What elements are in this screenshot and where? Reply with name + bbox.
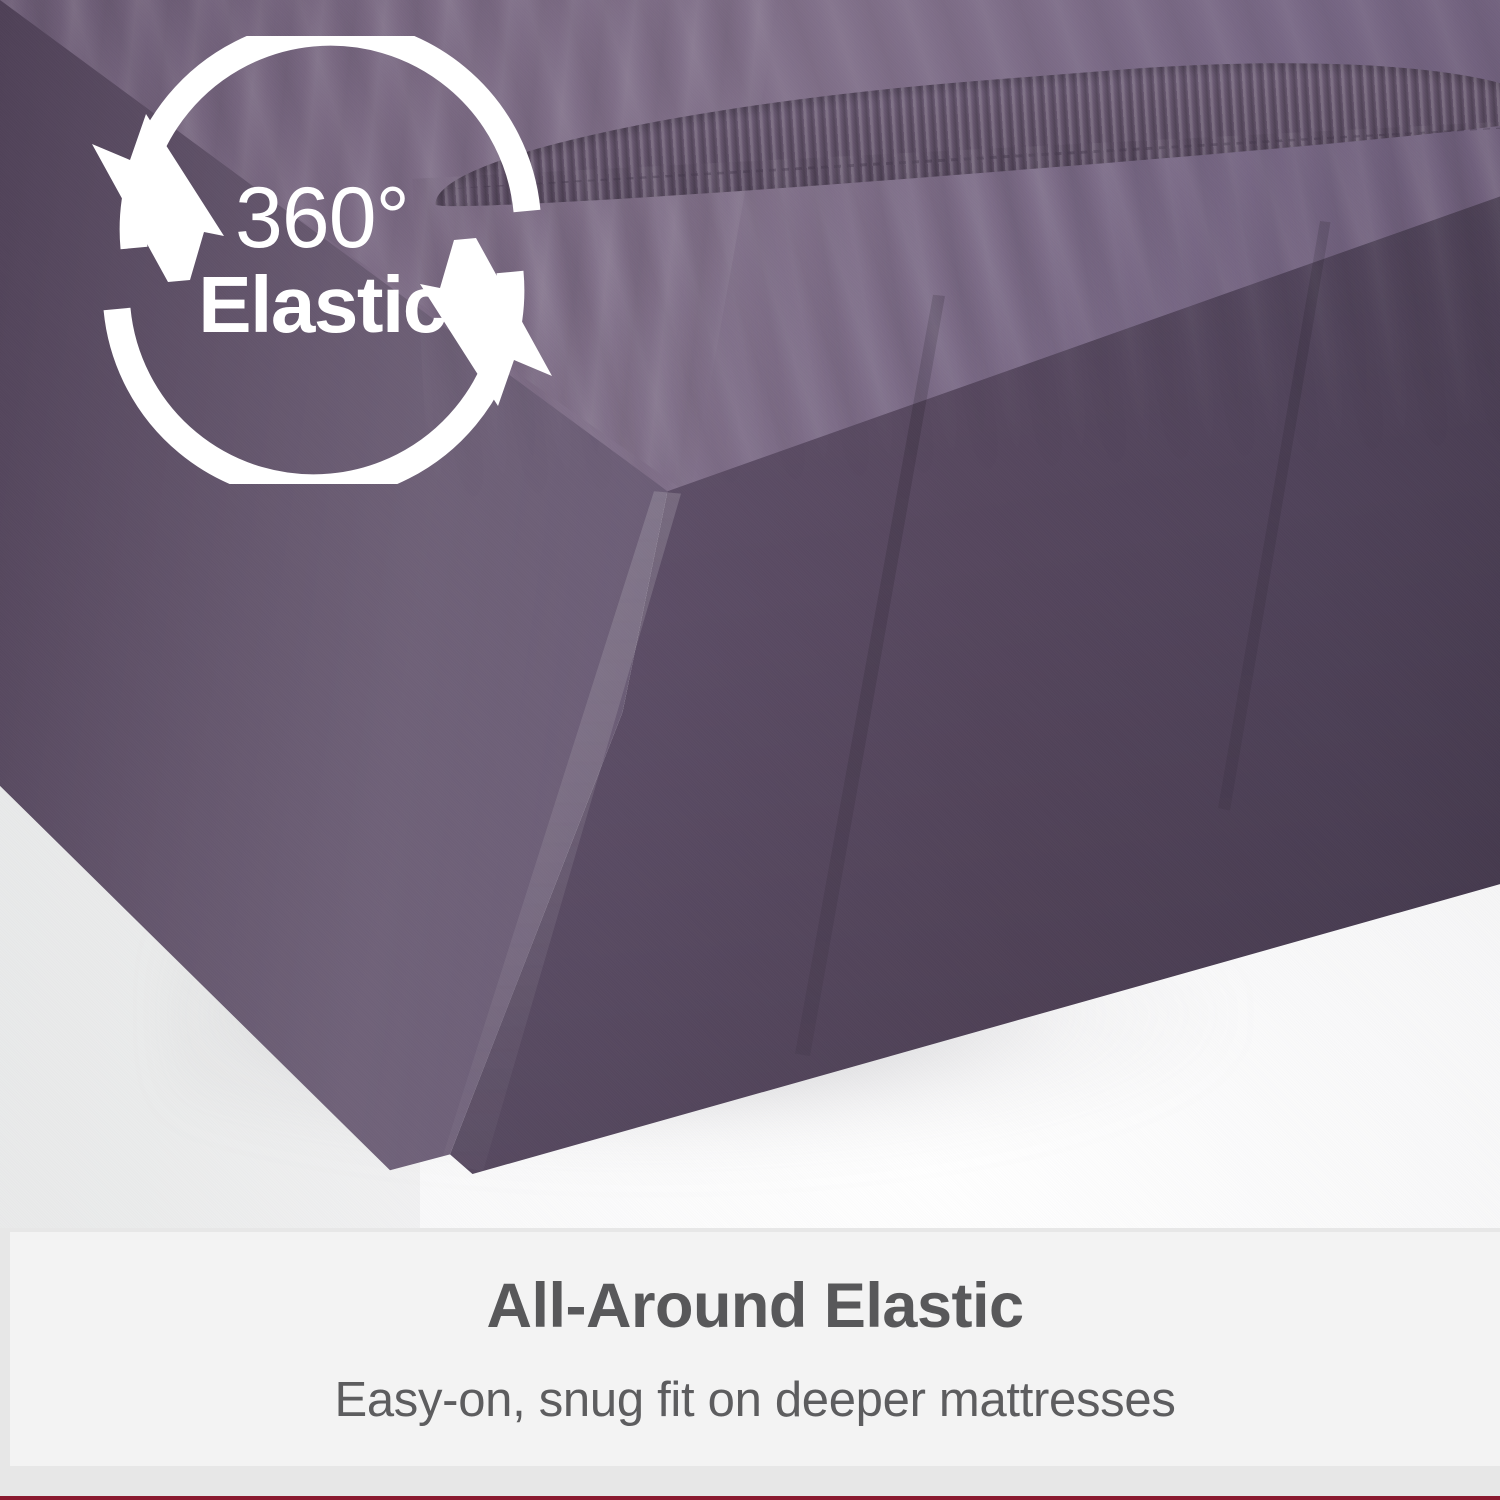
product-feature-image: 360° Elastic All-Around Elastic Easy-on,… [0,0,1500,1500]
caption-panel: All-Around Elastic Easy-on, snug fit on … [10,1232,1500,1466]
product-photo: 360° Elastic [0,0,1500,1228]
caption-title: All-Around Elastic [486,1270,1023,1342]
bottom-accent-rule [0,1496,1500,1500]
360-elastic-badge: 360° Elastic [72,36,572,484]
caption-subtitle: Easy-on, snug fit on deeper mattresses [334,1372,1175,1428]
sheet-gathered-pleats [412,122,1500,509]
